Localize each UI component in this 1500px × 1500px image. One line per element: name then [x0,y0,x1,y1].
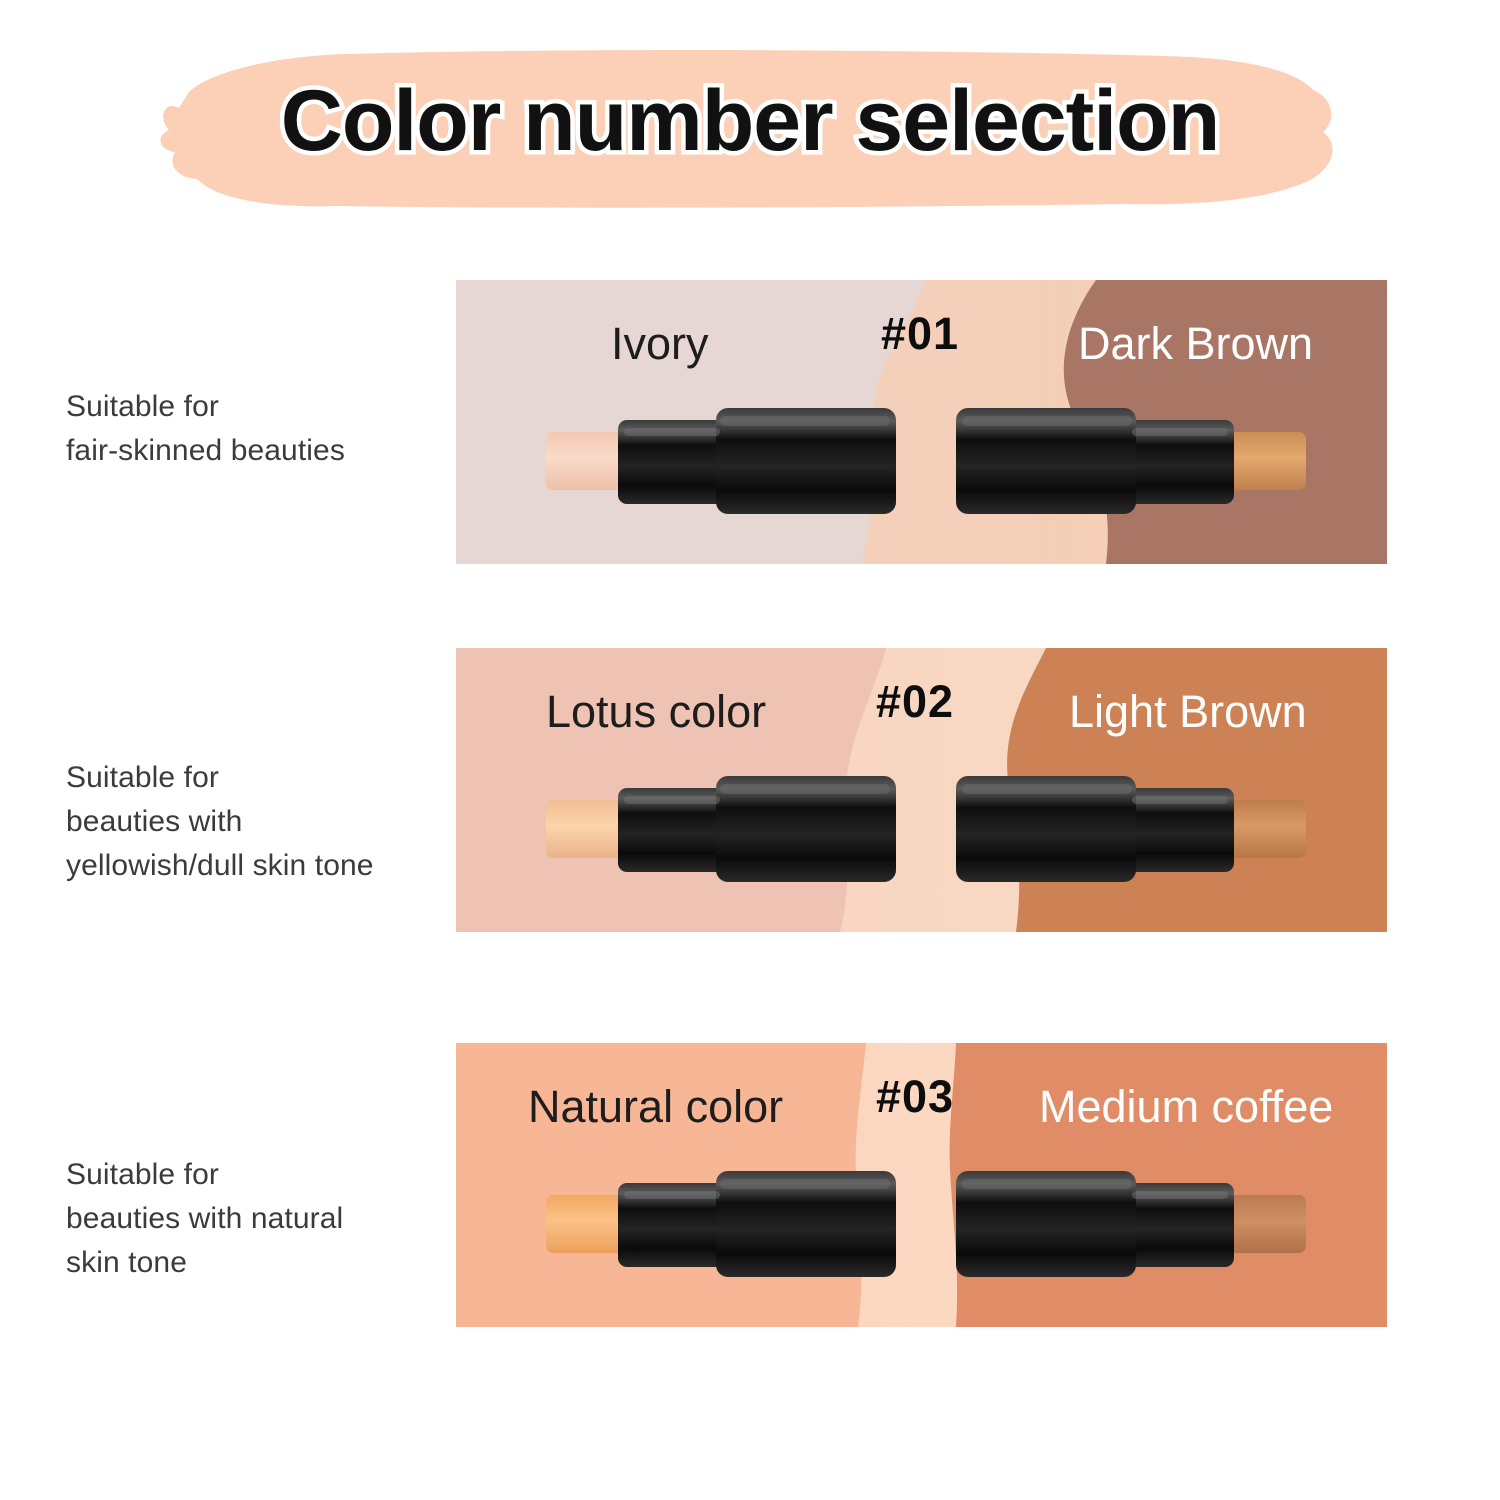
swatch-label-right-01: Dark Brown [1078,318,1313,370]
swatch-code-03: #03 [876,1071,954,1123]
swatch-label-left-02: Lotus color [546,686,766,738]
swatch-label-right-03: Medium coffee [1039,1081,1333,1133]
suitability-line: beauties with natural [66,1197,456,1241]
stick-tip [1226,800,1306,858]
swatch-panel-02: Lotus color #02 Light Brown [456,648,1387,932]
stick-tip [546,1195,626,1253]
swatch-code-02: #02 [876,676,954,728]
suitability-line: yellowish/dull skin tone [66,844,456,888]
stick-tip [1226,1195,1306,1253]
page-title: Color number selection [0,72,1500,171]
color-row-02: Suitable for beauties with yellowish/dul… [0,648,1500,932]
stick-tip [546,800,626,858]
swatch-label-left-03: Natural color [528,1081,783,1133]
suitability-line: fair-skinned beauties [66,429,456,473]
color-row-03: Suitable for beauties with natural skin … [0,1043,1500,1327]
swatch-panel-01: Ivory #01 Dark Brown [456,280,1387,564]
cosmetic-stick-right-03 [953,1169,1308,1279]
cosmetic-stick-left-03 [544,1169,899,1279]
suitability-text-01: Suitable for fair-skinned beauties [66,385,456,473]
stick-tip [546,432,626,490]
swatch-code-01: #01 [881,308,959,360]
cosmetic-stick-left-02 [544,774,899,884]
cosmetic-stick-right-02 [953,774,1308,884]
title-banner: Color number selection [0,0,1500,230]
suitability-line: Suitable for [66,756,456,800]
suitability-text-03: Suitable for beauties with natural skin … [66,1153,456,1285]
stick-tip [1226,432,1306,490]
cosmetic-stick-left-01 [544,406,899,516]
suitability-line: Suitable for [66,1153,456,1197]
swatch-label-left-01: Ivory [611,318,709,370]
suitability-line: skin tone [66,1241,456,1285]
cosmetic-stick-right-01 [953,406,1308,516]
suitability-line: Suitable for [66,385,456,429]
color-row-01: Suitable for fair-skinned beauties [0,280,1500,564]
swatch-label-right-02: Light Brown [1069,686,1307,738]
swatch-panel-03: Natural color #03 Medium coffee [456,1043,1387,1327]
suitability-line: beauties with [66,800,456,844]
suitability-text-02: Suitable for beauties with yellowish/dul… [66,756,456,888]
